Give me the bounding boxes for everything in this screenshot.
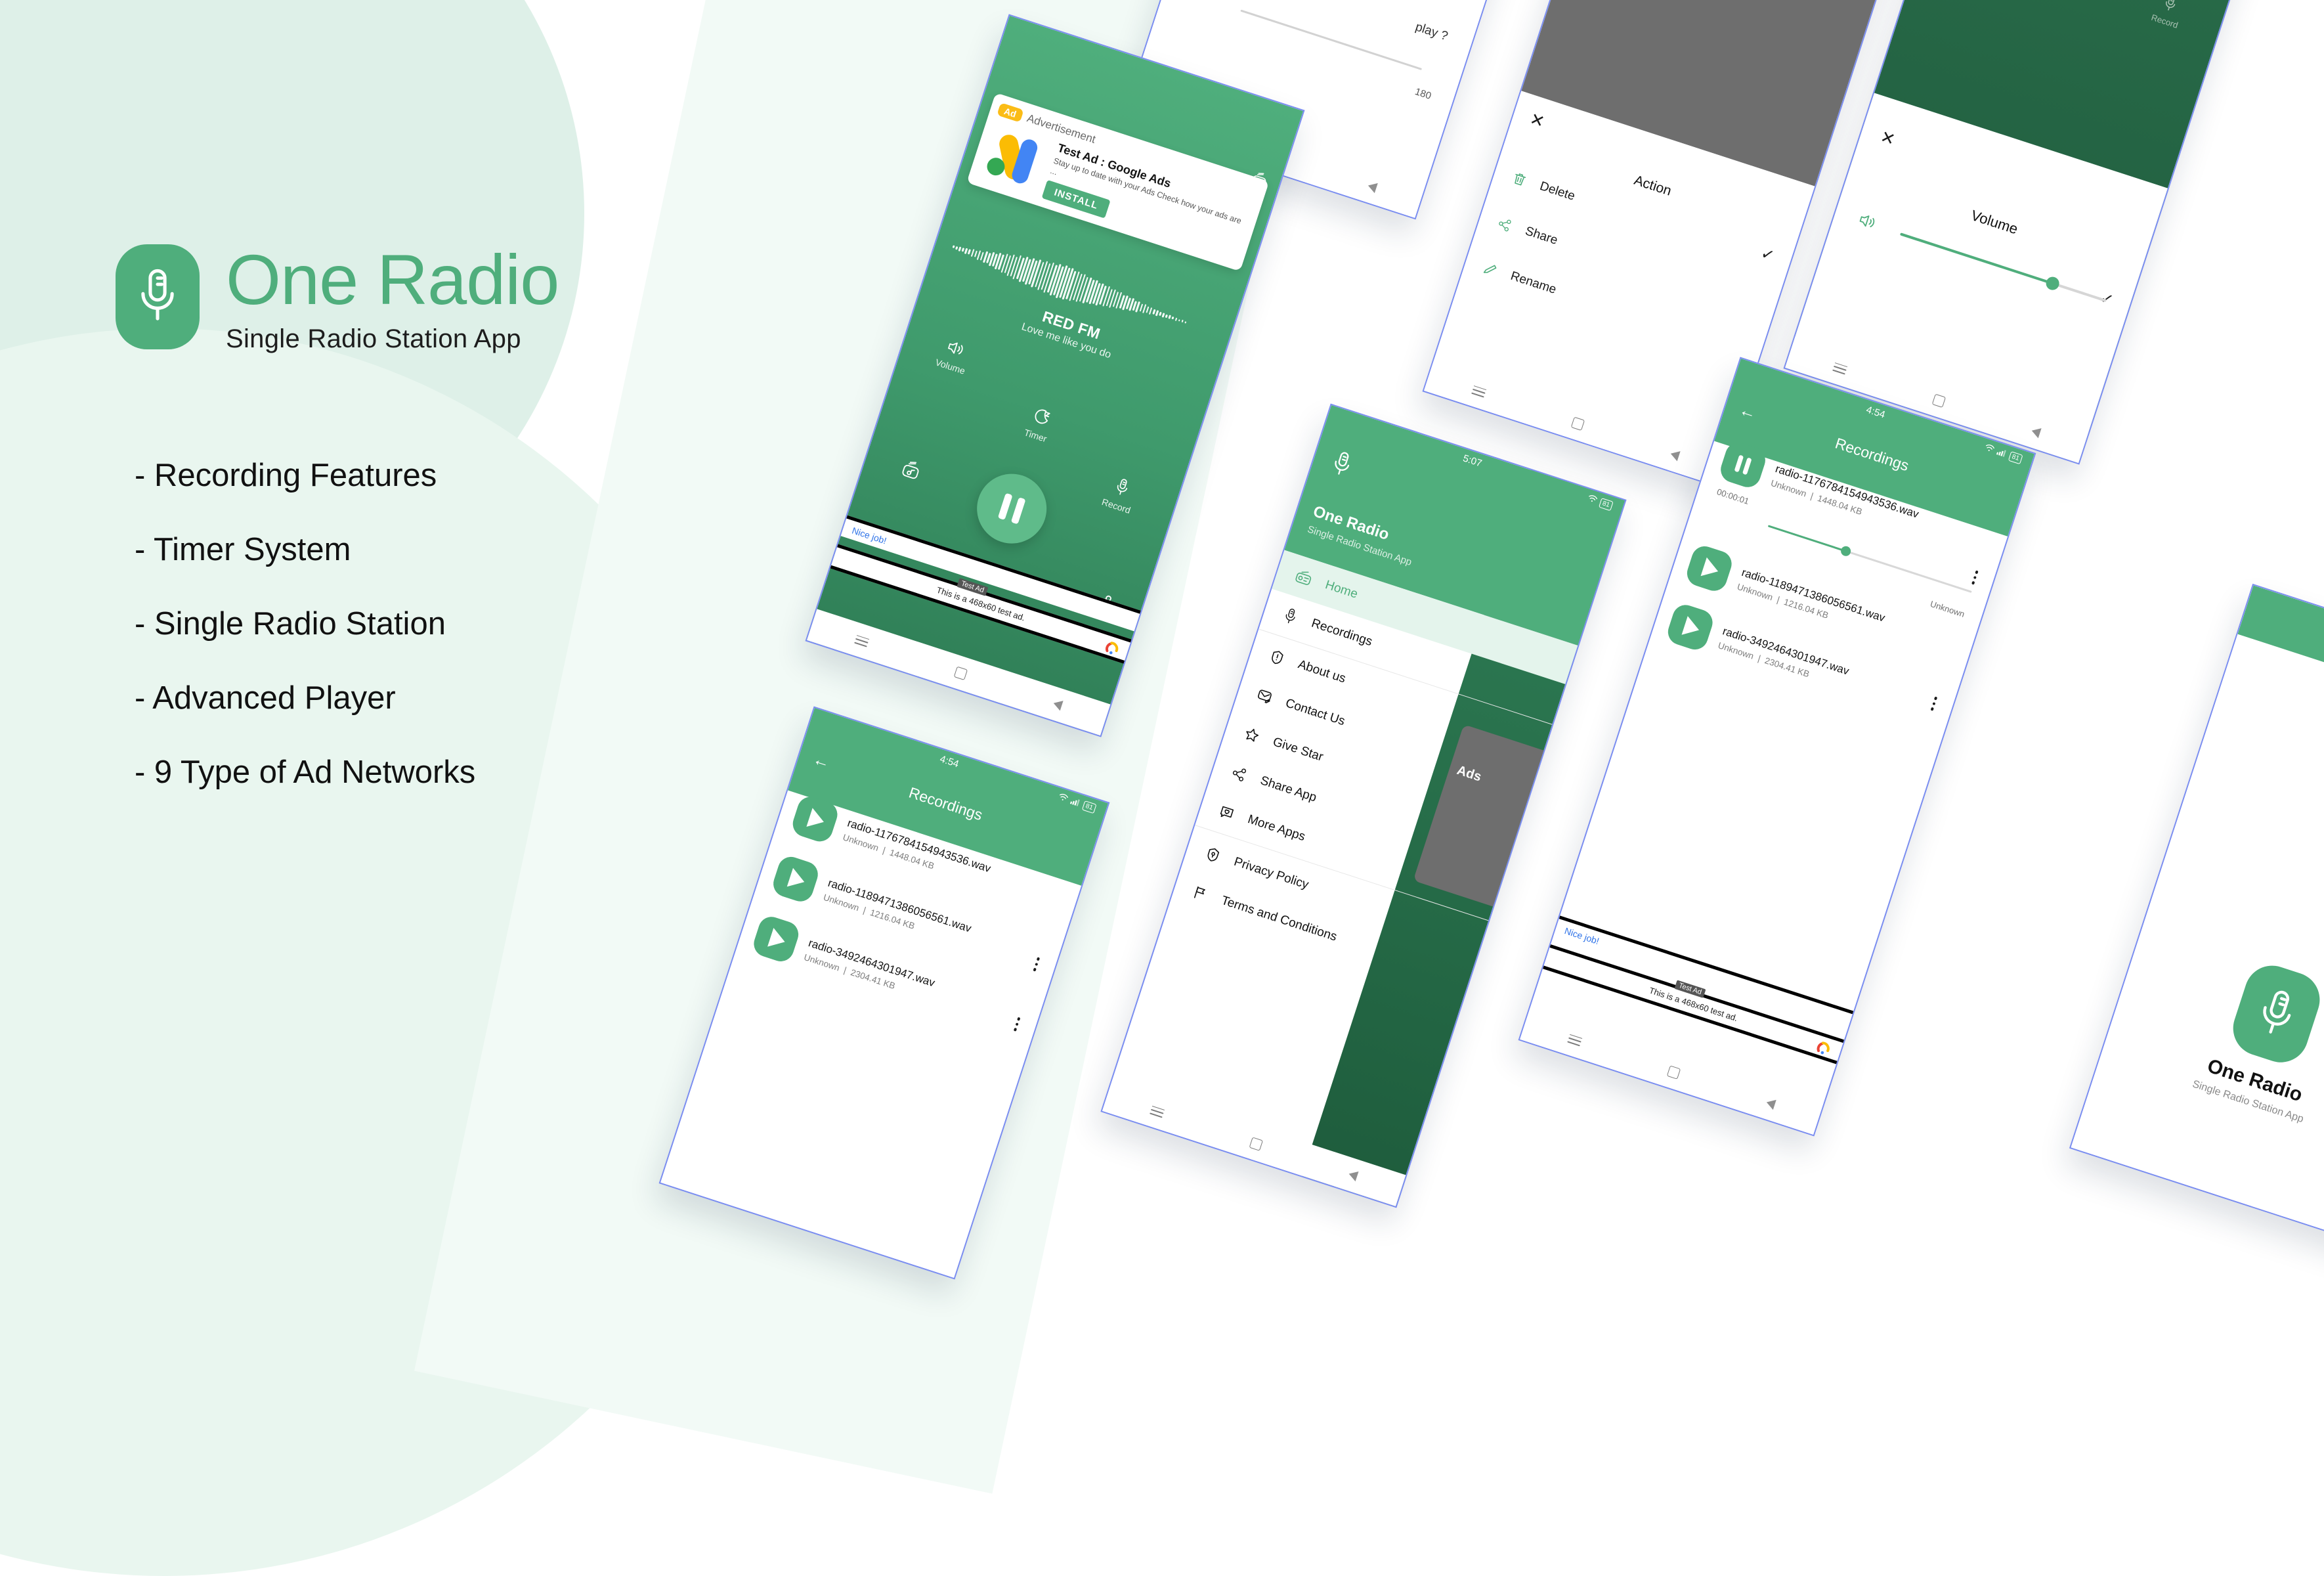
volume-icon	[1855, 210, 1880, 236]
star-icon	[1242, 725, 1262, 745]
play-icon[interactable]	[770, 854, 821, 905]
playback-duration: Unknown	[1929, 599, 1966, 619]
cellular-bars-icon	[1069, 796, 1082, 810]
sidebar-item-share-app-label: Share App	[1259, 774, 1318, 805]
back-triangle-icon[interactable]	[2030, 426, 2041, 438]
back-triangle-icon[interactable]	[1669, 449, 1680, 461]
home-square-icon[interactable]	[1667, 1065, 1681, 1079]
home-square-icon[interactable]	[1571, 416, 1585, 430]
feature-item: - Single Radio Station	[135, 608, 475, 640]
app-logo	[2226, 959, 2324, 1070]
wifi-icon	[1056, 792, 1069, 806]
volume-dialog-title: Volume	[1845, 167, 2143, 278]
volume-slider-handle[interactable]	[2044, 275, 2061, 292]
back-triangle-icon[interactable]	[1347, 1169, 1358, 1181]
pause-icon	[995, 492, 1029, 525]
google-ads-icon	[976, 120, 1052, 196]
back-triangle-icon[interactable]	[1765, 1097, 1776, 1110]
recents-icon[interactable]	[1150, 1105, 1165, 1118]
close-icon[interactable]: ✕	[1878, 127, 1897, 148]
flag-icon	[1190, 884, 1210, 904]
battery-level: 81	[2008, 451, 2023, 464]
play-icon[interactable]	[750, 913, 802, 965]
back-triangle-icon[interactable]	[1052, 698, 1063, 711]
radio-icon	[1293, 567, 1314, 588]
status-bar: 4:53	[2249, 585, 2324, 695]
sidebar-item-more-apps-label: More Apps	[1246, 812, 1307, 844]
heart-box-icon	[1217, 802, 1237, 822]
kebab-icon[interactable]	[1971, 570, 1979, 584]
battery-level: 81	[1082, 800, 1097, 814]
cellular-bars-icon	[1995, 447, 2008, 460]
share-icon	[1496, 215, 1514, 234]
recents-icon[interactable]	[854, 635, 869, 647]
share-icon	[1230, 764, 1249, 783]
wifi-icon	[1983, 443, 1996, 456]
shield-key-icon	[1203, 845, 1223, 865]
microphone-icon	[133, 265, 183, 328]
feature-item: - Advanced Player	[135, 682, 475, 714]
sidebar-item-recordings-label: Recordings	[1310, 617, 1374, 650]
timer-question: play ?	[1413, 20, 1450, 45]
status-time: 4:54	[1865, 404, 1887, 420]
recents-icon[interactable]	[1832, 362, 1847, 375]
sidebar-item-give-star-label: Give Star	[1271, 735, 1325, 764]
sidebar-item-about-us-label: About us	[1296, 657, 1347, 686]
play-icon[interactable]	[1665, 602, 1716, 653]
wifi-icon	[1586, 493, 1599, 507]
feature-item: - 9 Type of Ad Networks	[135, 756, 475, 789]
feature-list: - Recording Features - Timer System - Si…	[135, 460, 475, 831]
info-icon	[1267, 647, 1287, 667]
action-rename-label: Rename	[1509, 269, 1558, 297]
pencil-icon	[1481, 260, 1499, 278]
sidebar-item-home-label: Home	[1323, 578, 1360, 602]
ad-badge: Ad	[997, 102, 1023, 122]
recents-icon[interactable]	[1567, 1034, 1582, 1046]
feature-item: - Timer System	[135, 534, 475, 566]
splash-app-bar: 4:53	[2237, 585, 2324, 729]
action-share-label: Share	[1523, 224, 1559, 248]
seekbar-fill	[1768, 525, 1846, 552]
timer-slider[interactable]	[1240, 10, 1422, 70]
close-icon[interactable]: ✕	[1528, 110, 1547, 130]
battery-level: 81	[1599, 498, 1614, 511]
brand-title: One Radio	[226, 244, 559, 315]
feature-item: - Recording Features	[135, 460, 475, 492]
action-share[interactable]: Share	[1496, 215, 1559, 248]
timer-value: 180	[1413, 86, 1432, 102]
action-delete-label: Delete	[1538, 179, 1577, 204]
sidebar-item-contact-us-label: Contact Us	[1283, 696, 1346, 729]
action-rename[interactable]: Rename	[1481, 260, 1558, 297]
home-square-icon[interactable]	[1249, 1137, 1263, 1150]
microphone-icon	[2161, 0, 2181, 14]
playback-elapsed: 00:00:01	[1715, 487, 1750, 506]
back-triangle-icon[interactable]	[1366, 181, 1377, 193]
phone-recordings-playing: 4:54 81 ← Recordings radio-1176784154943…	[1518, 357, 2036, 1137]
home-square-icon[interactable]	[1932, 393, 1946, 407]
action-delete[interactable]: Delete	[1511, 170, 1577, 204]
drawer-ad-label: Ads	[1455, 763, 1483, 785]
app-logo	[116, 244, 200, 349]
trash-icon	[1511, 170, 1529, 188]
microphone-icon	[1280, 605, 1301, 626]
phone-splash: 4:53 One Radio Single Radio Station App	[2069, 584, 2324, 1244]
mail-edit-icon	[1255, 686, 1274, 706]
status-time: 4:54	[939, 753, 960, 770]
brand-lockup: One Radio Single Radio Station App	[116, 244, 559, 354]
brand-tagline: Single Radio Station App	[226, 324, 559, 354]
microphone-icon	[2247, 981, 2306, 1047]
status-time: 5:07	[1461, 452, 1483, 469]
play-icon[interactable]	[1684, 543, 1735, 594]
seekbar-handle[interactable]	[1840, 545, 1852, 558]
check-icon[interactable]: ✓	[1759, 246, 1776, 265]
home-square-icon[interactable]	[954, 666, 968, 680]
recents-icon[interactable]	[1471, 385, 1486, 398]
microphone-icon	[1326, 448, 1356, 483]
